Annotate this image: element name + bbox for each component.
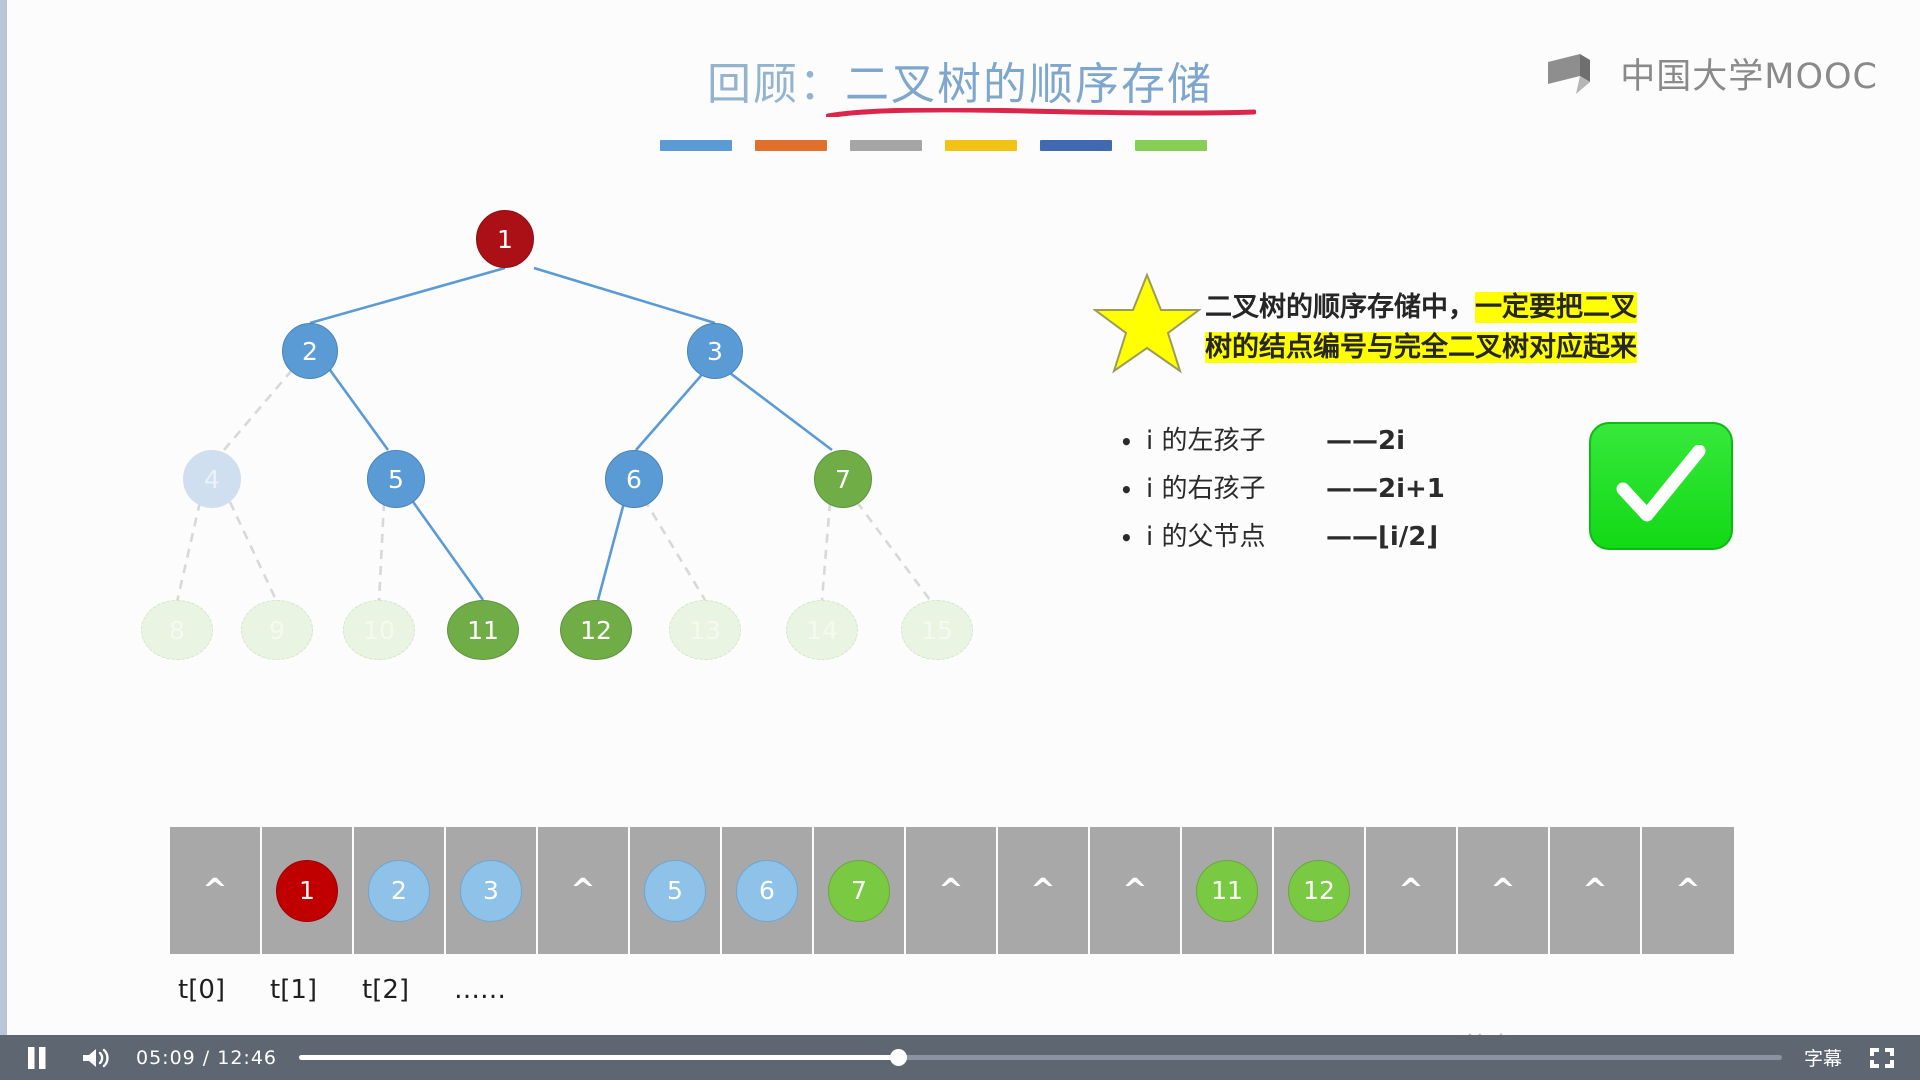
tree-node-label: 6 xyxy=(626,465,642,494)
tree-node-label: 11 xyxy=(467,616,499,645)
array-cell: 2 xyxy=(354,827,446,954)
tree-node-label: 8 xyxy=(169,616,185,645)
mooc-logo: 中国大学MOOC xyxy=(1546,48,1878,99)
exit-fullscreen-button[interactable] xyxy=(1868,1045,1896,1071)
array-cell-empty-marker: ^ xyxy=(1030,876,1055,906)
array-cell-value: 7 xyxy=(828,860,890,922)
tree-node-6: 6 xyxy=(605,450,663,508)
bullet-dot-icon: • xyxy=(1120,419,1146,466)
tree-node-label: 13 xyxy=(689,616,721,645)
array-cell: ^ xyxy=(170,827,262,954)
tree-node-10: 10 xyxy=(343,600,415,660)
tree-node-15: 15 xyxy=(901,600,973,660)
array-cell-empty-marker: ^ xyxy=(202,876,227,906)
array-cell: 7 xyxy=(814,827,906,954)
tree-node-11: 11 xyxy=(447,600,519,660)
accent-bar-6 xyxy=(1135,140,1207,151)
array-cell: 11 xyxy=(1182,827,1274,954)
tree-node-9: 9 xyxy=(241,600,313,660)
array-cell: ^ xyxy=(1090,827,1182,954)
array-cell-value: 6 xyxy=(736,860,798,922)
video-control-bar: 05:09 / 12:46 字幕 xyxy=(0,1035,1920,1080)
tree-node-label: 2 xyxy=(302,337,318,366)
title-underline-scribble xyxy=(826,108,1256,117)
star-icon xyxy=(1093,272,1201,376)
tree-node-label: 1 xyxy=(497,225,513,254)
tree-node-5: 5 xyxy=(367,450,425,508)
array-cell-empty-marker: ^ xyxy=(1675,876,1700,906)
progress-bar[interactable] xyxy=(299,1055,1782,1060)
rule-value: ——2i xyxy=(1326,418,1405,465)
page-title: 回顾：二叉树的顺序存储 xyxy=(707,48,1213,112)
tree-node-14: 14 xyxy=(786,600,858,660)
array-cell: ^ xyxy=(1550,827,1642,954)
array-index-labels: t[0]t[1]t[2]…… xyxy=(178,975,546,1005)
array-cell-empty-marker: ^ xyxy=(570,876,595,906)
array-index-label: t[2] xyxy=(362,975,454,1005)
tree-node-7: 7 xyxy=(814,450,872,508)
tree-node-label: 15 xyxy=(921,616,953,645)
tree-node-1: 1 xyxy=(476,210,534,268)
array-cell-empty-marker: ^ xyxy=(1122,876,1147,906)
note-highlight-part-2: 树的结点编号与完全二叉树对应起来 xyxy=(1205,332,1637,363)
tree-node-2: 2 xyxy=(282,323,338,379)
rule-label: i 的父节点 xyxy=(1146,514,1326,561)
pause-button[interactable] xyxy=(22,1045,52,1071)
array-index-label: t[0] xyxy=(178,975,270,1005)
pause-icon xyxy=(26,1046,48,1070)
page-title-prefix: 回顾： xyxy=(707,59,845,110)
bullet-dot-icon: • xyxy=(1120,515,1146,562)
title-accent-bars xyxy=(660,140,1260,154)
highlight-note: 二叉树的顺序存储中，一定要把二叉树的结点编号与完全二叉树对应起来 xyxy=(1205,288,1805,368)
correct-check-badge xyxy=(1589,422,1733,550)
tree-node-label: 3 xyxy=(707,337,723,366)
tree-node-label: 7 xyxy=(835,465,851,494)
array-cell: ^ xyxy=(1642,827,1734,954)
array-cell: 5 xyxy=(630,827,722,954)
sequential-storage-array: ^123^567^^^1112^^^^ xyxy=(170,827,1734,954)
check-icon xyxy=(1613,445,1709,527)
list-item: • i 的右孩子 ——2i+1 xyxy=(1120,466,1590,514)
array-cell: 1 xyxy=(262,827,354,954)
tree-node-13: 13 xyxy=(669,600,741,660)
accent-bar-2 xyxy=(755,140,827,151)
note-highlight-part-1: 一定要把二叉 xyxy=(1475,292,1637,323)
array-cell-value: 2 xyxy=(368,860,430,922)
array-cell-value: 1 xyxy=(276,860,338,922)
array-cell-empty-marker: ^ xyxy=(938,876,963,906)
array-cell-empty-marker: ^ xyxy=(1398,876,1423,906)
accent-bar-5 xyxy=(1040,140,1112,151)
rule-label: i 的右孩子 xyxy=(1146,466,1326,513)
tree-node-label: 9 xyxy=(269,616,285,645)
array-cell: 6 xyxy=(722,827,814,954)
list-item: • i 的左孩子 ——2i xyxy=(1120,418,1590,466)
array-cell: 3 xyxy=(446,827,538,954)
tree-node-3: 3 xyxy=(687,323,743,379)
array-index-label: …… xyxy=(454,975,546,1005)
exit-fullscreen-icon xyxy=(1869,1046,1895,1070)
array-cell: ^ xyxy=(1458,827,1550,954)
index-rules-list: • i 的左孩子 ——2i • i 的右孩子 ——2i+1 • i 的父节点 —… xyxy=(1120,418,1590,562)
array-index-label: t[1] xyxy=(270,975,362,1005)
time-display: 05:09 / 12:46 xyxy=(136,1047,277,1069)
mooc-book-icon xyxy=(1546,52,1608,96)
rule-value: ——2i+1 xyxy=(1326,466,1445,513)
progress-bar-handle[interactable] xyxy=(890,1049,907,1066)
array-cell-value: 3 xyxy=(460,860,522,922)
tree-node-label: 14 xyxy=(806,616,838,645)
tree-node-label: 4 xyxy=(204,465,220,494)
tree-node-label: 10 xyxy=(363,616,395,645)
mooc-logo-text: 中国大学MOOC xyxy=(1620,48,1878,99)
rule-label: i 的左孩子 xyxy=(1146,418,1326,465)
accent-bar-4 xyxy=(945,140,1017,151)
binary-tree-diagram: 123456789101112131415 xyxy=(120,210,1040,710)
tree-node-label: 12 xyxy=(580,616,612,645)
note-plain-text: 二叉树的顺序存储中， xyxy=(1205,292,1475,323)
slide-left-accent-bar xyxy=(0,0,7,1035)
page-title-main: 二叉树的顺序存储 xyxy=(845,59,1213,110)
tree-node-4: 4 xyxy=(183,450,241,508)
array-cell-value: 11 xyxy=(1196,860,1258,922)
progress-bar-fill xyxy=(299,1055,898,1060)
array-cell-value: 12 xyxy=(1288,860,1350,922)
array-cell: ^ xyxy=(906,827,998,954)
rule-value: ——⌊i/2⌋ xyxy=(1326,514,1438,561)
volume-button[interactable] xyxy=(80,1045,112,1071)
slide-canvas: 回顾：二叉树的顺序存储 中国大学MOOC xyxy=(0,0,1920,1035)
tree-node-12: 12 xyxy=(560,600,632,660)
array-cell: ^ xyxy=(1366,827,1458,954)
tree-node-8: 8 xyxy=(141,600,213,660)
video-player-page: 回顾：二叉树的顺序存储 中国大学MOOC xyxy=(0,0,1920,1080)
array-cell-empty-marker: ^ xyxy=(1490,876,1515,906)
volume-icon xyxy=(81,1046,111,1070)
tree-node-label: 5 xyxy=(388,465,404,494)
list-item: • i 的父节点 ——⌊i/2⌋ xyxy=(1120,514,1590,562)
accent-bar-1 xyxy=(660,140,732,151)
array-cell-value: 5 xyxy=(644,860,706,922)
array-cell: ^ xyxy=(998,827,1090,954)
accent-bar-3 xyxy=(850,140,922,151)
bullet-dot-icon: • xyxy=(1120,467,1146,514)
array-cell-empty-marker: ^ xyxy=(1582,876,1607,906)
subtitle-button[interactable]: 字幕 xyxy=(1804,1044,1842,1071)
array-cell: ^ xyxy=(538,827,630,954)
array-cell: 12 xyxy=(1274,827,1366,954)
